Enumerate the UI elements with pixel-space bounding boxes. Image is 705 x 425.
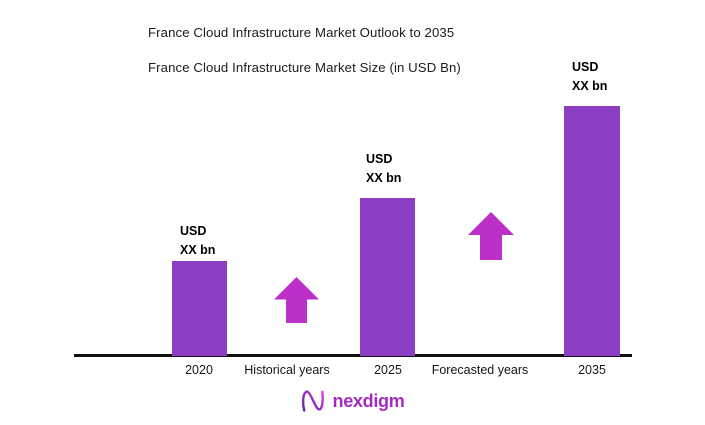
brand-logo: nexdigm [0,390,705,412]
plot-area: USD XX bn USD XX bn USD XX bn 2020 Histo… [0,0,705,425]
nexdigm-n-mark-icon [301,390,326,412]
bar-value-unit: USD [572,58,607,77]
bar-value-label-2025: USD XX bn [366,150,401,189]
bar-value-unit: USD [366,150,401,169]
bar-value-label-2020: USD XX bn [180,222,215,261]
brand-name: nexdigm [333,392,405,410]
x-axis-line [74,354,632,357]
bar-2035 [564,106,620,356]
bar-2025 [360,198,415,356]
bar-value-amount: XX bn [366,169,401,188]
bar-value-amount: XX bn [180,241,215,260]
bar-value-unit: USD [180,222,215,241]
bar-2020 [172,261,227,356]
arrow-up-icon-historical [274,277,319,323]
axis-label-2035: 2035 [502,363,682,377]
chart-container: France Cloud Infrastructure Market Outlo… [0,0,705,425]
bar-value-label-2035: USD XX bn [572,58,607,97]
bar-value-amount: XX bn [572,77,607,96]
arrow-up-icon-forecast [468,212,514,260]
